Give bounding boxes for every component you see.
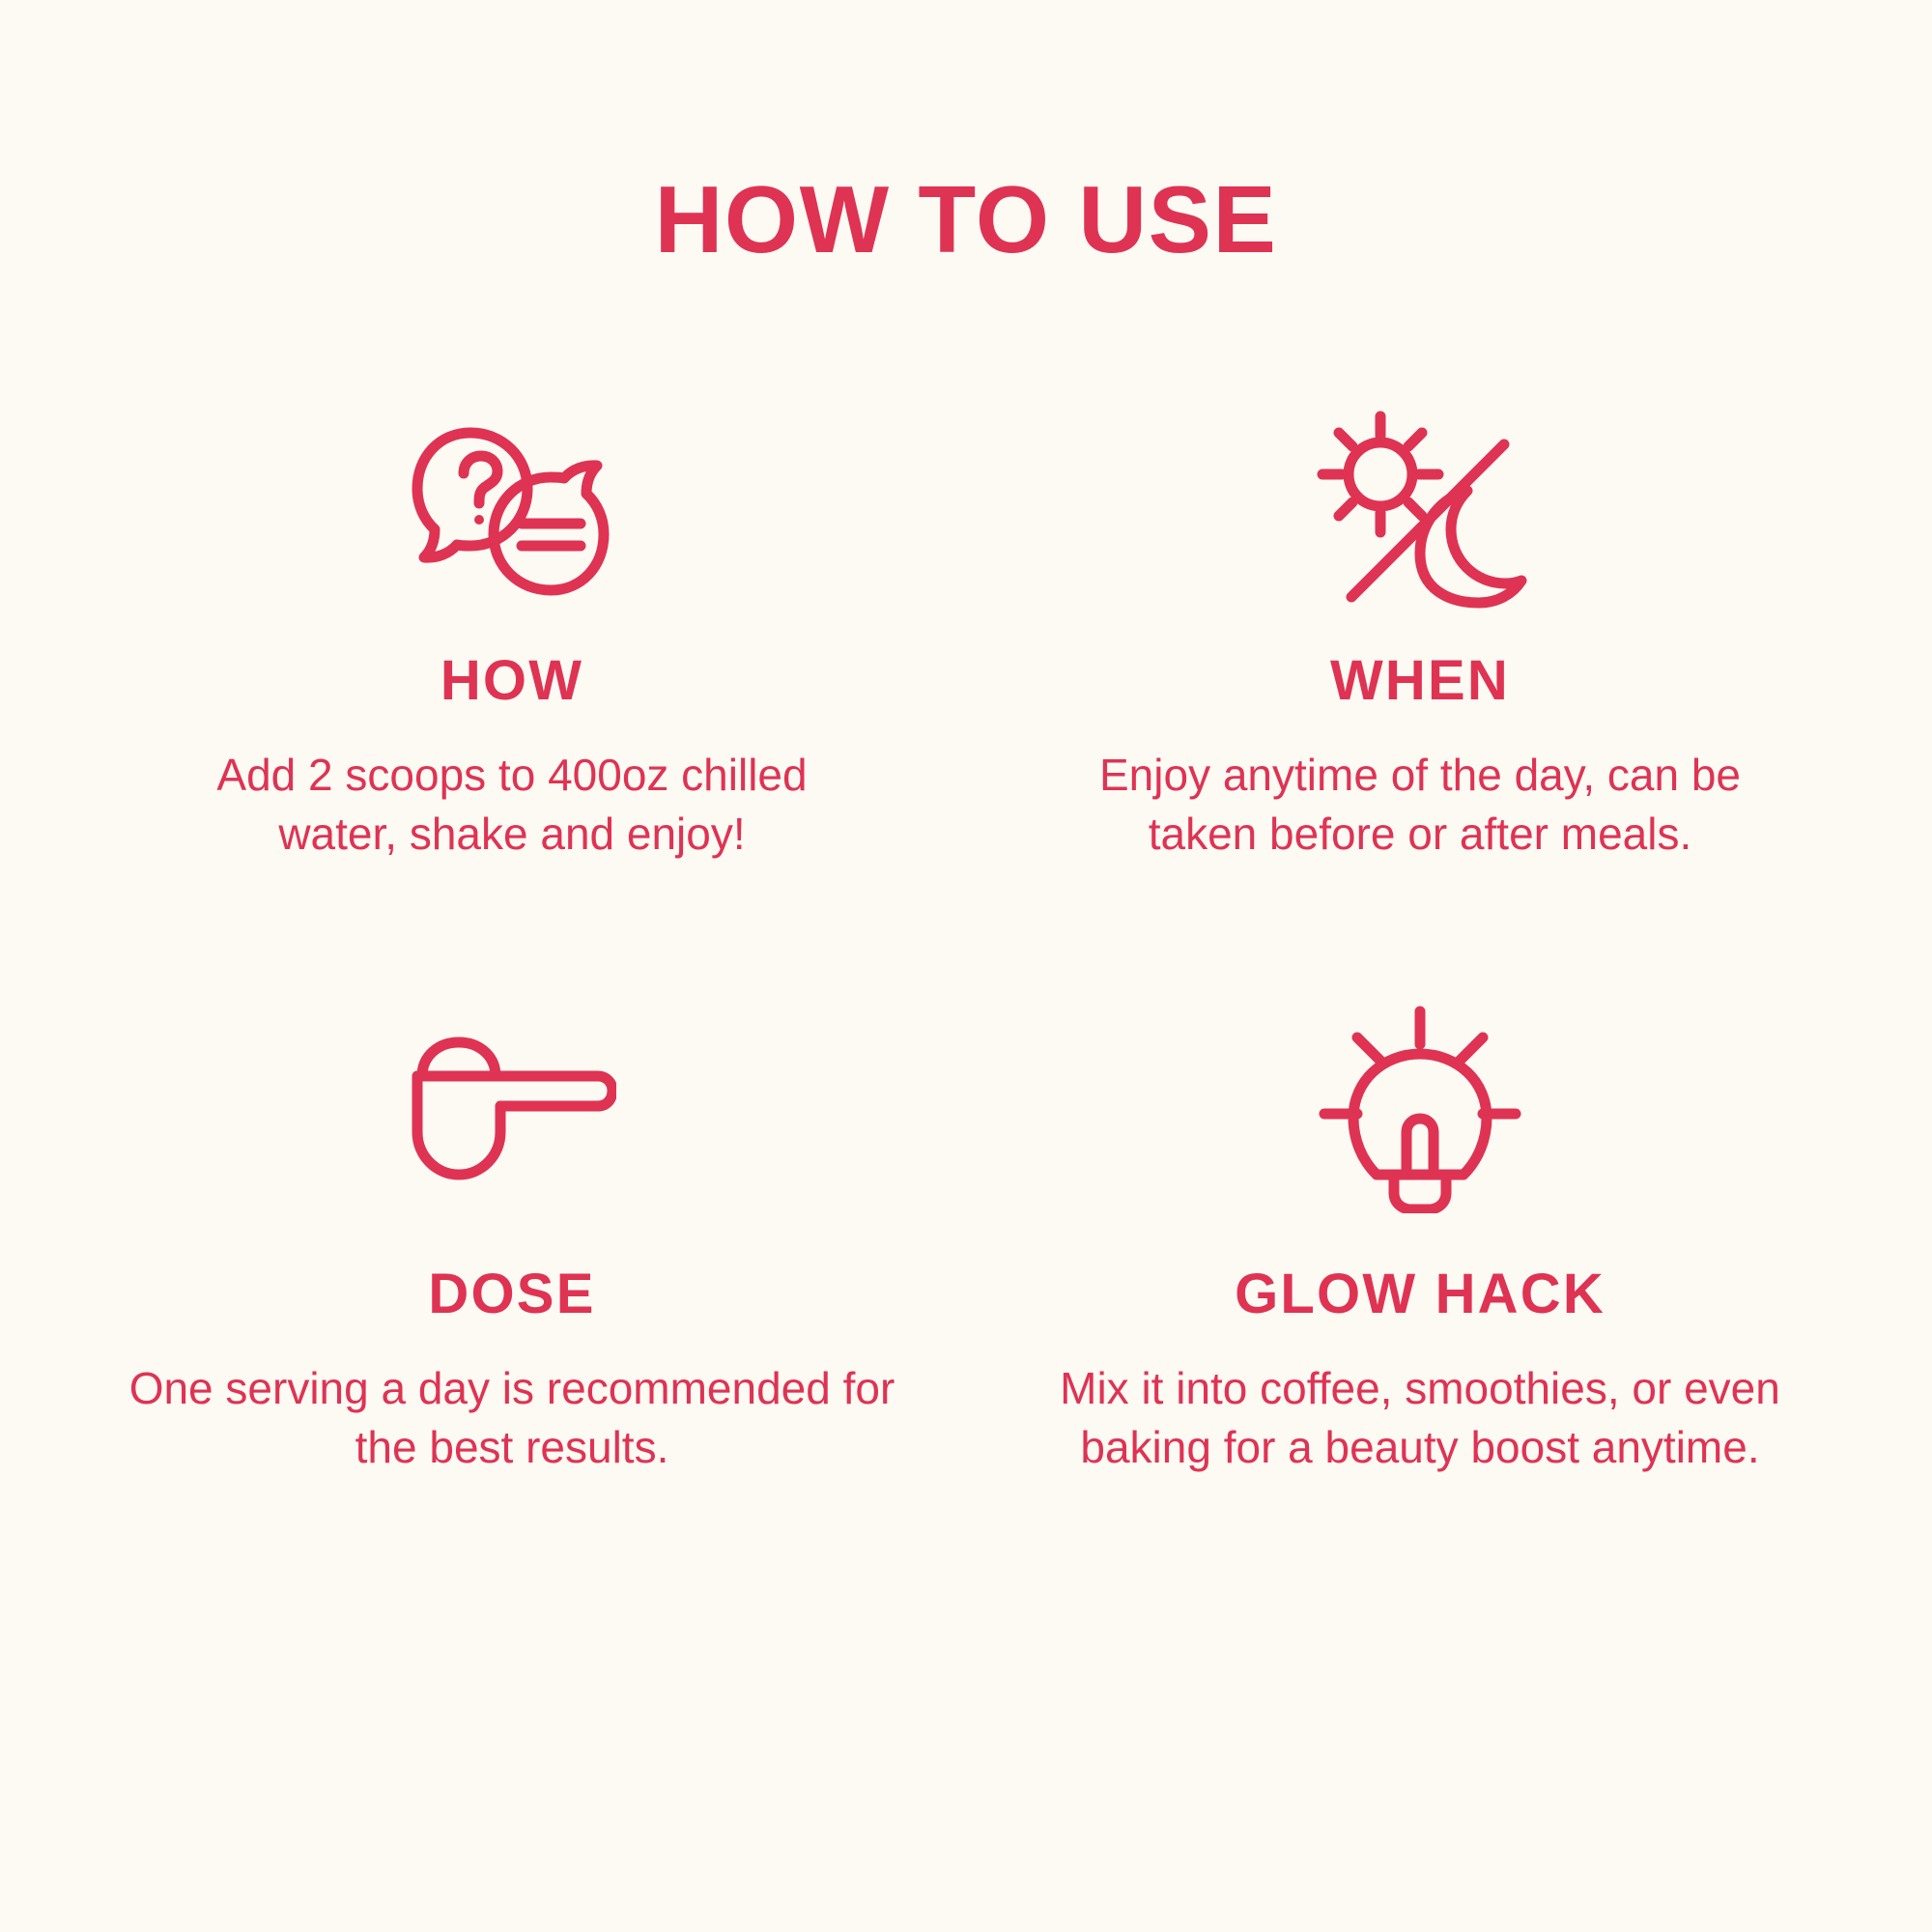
card-dose: DOSE One serving a day is recommended fo… (58, 988, 966, 1476)
lightbulb-icon (1319, 988, 1521, 1230)
card-body-when: Enjoy anytime of the day, can be taken b… (1053, 746, 1787, 863)
page-title: HOW TO USE (655, 172, 1278, 267)
sun-moon-icon (1313, 390, 1527, 632)
measuring-scoop-icon (409, 988, 616, 1230)
card-when: WHEN Enjoy anytime of the day, can be ta… (966, 390, 1874, 863)
card-title-how: HOW (440, 653, 583, 709)
card-how: HOW Add 2 scoops to 400oz chilled water,… (58, 390, 966, 863)
speech-bubbles-question-icon (410, 390, 614, 632)
card-body-dose: One serving a day is recommended for the… (126, 1359, 898, 1476)
card-body-how: Add 2 scoops to 400oz chilled water, sha… (174, 746, 850, 863)
card-title-dose: DOSE (428, 1266, 595, 1322)
card-body-glow-hack: Mix it into coffee, smoothies, or even b… (1014, 1359, 1826, 1476)
card-title-glow-hack: GLOW HACK (1235, 1266, 1605, 1322)
how-to-use-poster: HOW TO USE HOW Add 2 scoops to 400oz chi… (0, 0, 1932, 1932)
card-glow-hack: GLOW HACK Mix it into coffee, smoothies,… (966, 988, 1874, 1476)
card-title-when: WHEN (1330, 653, 1510, 709)
instruction-grid: HOW Add 2 scoops to 400oz chilled water,… (58, 390, 1874, 1477)
